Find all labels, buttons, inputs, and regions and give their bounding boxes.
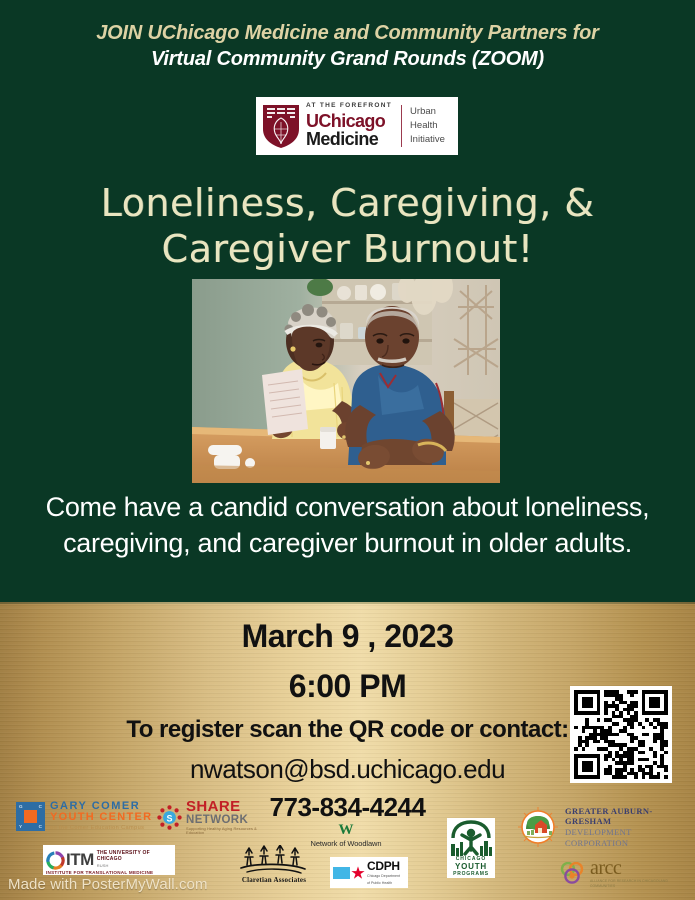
gc-letter-y: Y: [19, 824, 22, 829]
itm-partner-uchicago: THE UNIVERSITY OF CHICAGO: [97, 851, 175, 862]
registration-qr-code[interactable]: [570, 686, 672, 783]
gary-comer-wordmark: GARY COMER YOUTH CENTER on the Comer Edu…: [50, 801, 152, 832]
logo-share-network: S SHARE NETWORK Supporting Healthy Aging…: [157, 801, 265, 833]
uchicago-medicine-logo: AT THE FOREFRONT UChicago Medicine Urban…: [256, 97, 458, 155]
uhi-line-3: Initiative: [410, 133, 445, 147]
uhi-line-1: Urban: [410, 105, 445, 119]
brand-tagline: AT THE FOREFRONT: [306, 103, 392, 110]
chicago-youth-wordmark: CHICAGO YOUTH PROGRAMS: [447, 857, 495, 877]
chicago-flag-icon: [333, 867, 350, 879]
event-description: Come have a candid conversation about lo…: [18, 489, 677, 561]
auburn-gresham-badge-icon: [518, 807, 558, 847]
chicago-star-icon: [351, 866, 365, 880]
gc-letter-c2: C: [39, 824, 42, 829]
logo-divider: [401, 105, 402, 147]
share-network-burst-icon: S: [157, 805, 182, 830]
itm-caption: INSTITUTE FOR TRANSLATIONAL MEDICINE: [46, 870, 153, 875]
itm-wordmark: ITM: [66, 850, 94, 870]
cyp-line-3: PROGRAMS: [447, 872, 495, 878]
brand-name-uchicago: UChicago: [306, 112, 392, 130]
brand-name-medicine: Medicine: [306, 130, 392, 148]
itm-ring-icon: [46, 851, 65, 870]
gag-line-1: GREATER AUBURN-GRESHAM: [565, 806, 688, 827]
arcc-name: arcc: [590, 858, 680, 878]
poster-canvas: JOIN UChicago Medicine and Community Par…: [0, 0, 695, 900]
logo-greater-auburn-gresham: GREATER AUBURN-GRESHAM DEVELOPMENT CORPO…: [518, 806, 688, 848]
cdph-sub-1: Chicago Department: [367, 874, 400, 878]
woodlawn-mark-icon: W: [300, 823, 392, 838]
logo-cdph: CDPH Chicago Department of Public Health: [330, 857, 408, 888]
poster-title-line-2: Caregiver Burnout!: [0, 226, 695, 272]
arcc-rings-icon: [560, 862, 587, 884]
claretian-figures-icon: [228, 845, 320, 875]
uchicago-shield-icon: [261, 103, 301, 149]
cdph-wordmark: CDPH Chicago Department of Public Health: [367, 860, 400, 885]
cdph-sub-2: of Public Health: [367, 881, 400, 885]
arcc-wordmark: arcc ALLIANCE FOR RESEARCH IN CHICAGOLAN…: [590, 858, 680, 888]
share-network-wordmark: SHARE NETWORK Supporting Healthy Aging R…: [186, 799, 265, 836]
gary-comer-line-2: YOUTH CENTER: [50, 812, 152, 824]
gary-comer-mark-icon: G C Y C: [16, 802, 45, 831]
gary-comer-inner-square: [24, 810, 37, 823]
cdph-name: CDPH: [367, 860, 400, 872]
gc-letter-c1: C: [39, 804, 42, 809]
event-date: March 9 , 2023: [0, 618, 695, 655]
qr-code-matrix: [574, 690, 668, 779]
urban-health-initiative-label: Urban Health Initiative: [410, 105, 445, 146]
logo-arcc: arcc ALLIANCE FOR RESEARCH IN CHICAGOLAN…: [560, 855, 680, 891]
arcc-sub: ALLIANCE FOR RESEARCH IN CHICAGOLAND COM…: [590, 879, 680, 888]
poster-title-line-1: Loneliness, Caregiving, &: [0, 180, 695, 226]
logo-chicago-youth-programs: CHICAGO YOUTH PROGRAMS: [447, 818, 495, 878]
gary-comer-line-3: on the Comer Education Campus: [50, 825, 152, 831]
woodlawn-caption: Network of Woodlawn: [300, 839, 392, 848]
logo-gary-comer-youth-center: G C Y C GARY COMER YOUTH CENTER on the C…: [16, 799, 156, 833]
header-line-1: JOIN UChicago Medicine and Community Par…: [0, 22, 695, 45]
claretian-caption: Claretian Associates: [228, 876, 320, 884]
logo-claretian-associates: Claretian Associates: [228, 845, 320, 887]
share-tagline: Supporting Healthy Aging Resources & Edu…: [186, 827, 265, 835]
gag-line-2: DEVELOPMENT CORPORATION: [565, 827, 688, 848]
logo-itm: ITM THE UNIVERSITY OF CHICAGO RUSH INSTI…: [43, 845, 175, 875]
logo-network-of-woodlawn: W Network of Woodlawn: [300, 823, 392, 849]
header-line-2: Virtual Community Grand Rounds (ZOOM): [0, 48, 695, 71]
uhi-line-2: Health: [410, 119, 445, 133]
share-line-1: SHARE: [186, 799, 265, 815]
svg-text:S: S: [166, 813, 172, 823]
itm-partner-marks: THE UNIVERSITY OF CHICAGO RUSH: [97, 851, 175, 868]
postermywall-watermark: Made with PosterMyWall.com: [8, 876, 208, 893]
share-line-2: NETWORK: [186, 814, 265, 826]
auburn-gresham-wordmark: GREATER AUBURN-GRESHAM DEVELOPMENT CORPO…: [565, 806, 688, 849]
itm-partner-rush: RUSH: [97, 864, 175, 868]
event-photo: [192, 279, 500, 483]
chicago-youth-skyline-icon: [447, 820, 495, 856]
uchicago-medicine-wordmark: AT THE FOREFRONT UChicago Medicine: [306, 103, 392, 148]
gc-letter-g: G: [19, 804, 23, 809]
